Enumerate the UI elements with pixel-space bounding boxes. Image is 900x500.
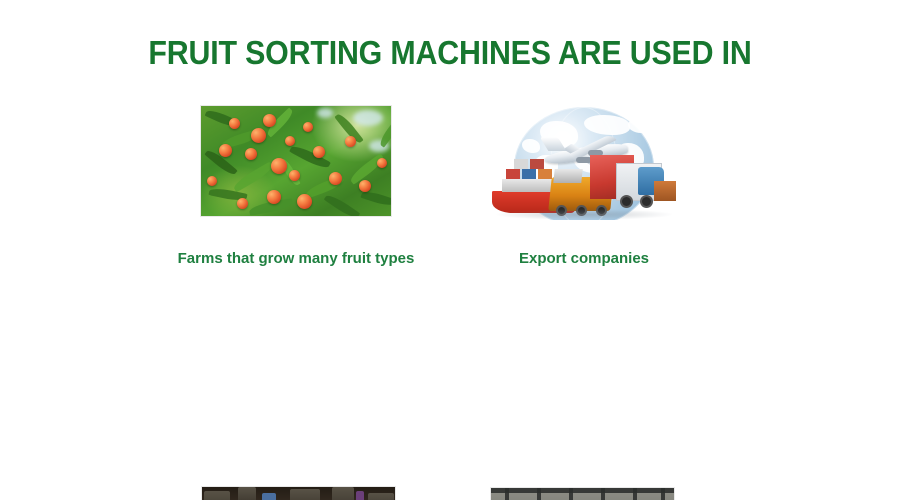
page-title: FRUIT SORTING MACHINES ARE USED IN (36, 34, 864, 72)
content-grid: Farms that grow many fruit types (0, 105, 900, 485)
grid-row-1: Farms that grow many fruit types (0, 105, 900, 295)
caption-farms: Farms that grow many fruit types (165, 250, 427, 267)
grid-cell-farms: Farms that grow many fruit types (200, 105, 392, 217)
caption-export: Export companies (488, 250, 680, 267)
global-logistics-photo (488, 105, 680, 220)
grid-cell-juice: Juice and puree factories (201, 486, 396, 500)
grid-row-2: Juice and puree factories (0, 295, 900, 485)
slide-canvas: FRUIT SORTING MACHINES ARE USED IN (0, 0, 900, 500)
warehouse-storage-photo (490, 487, 675, 500)
peach-orchard-photo (200, 105, 392, 217)
juice-bottling-conveyor-photo (201, 486, 396, 500)
grid-cell-storage: Storage and shipping centers (490, 487, 675, 500)
grid-cell-export: Export companies (488, 105, 680, 220)
